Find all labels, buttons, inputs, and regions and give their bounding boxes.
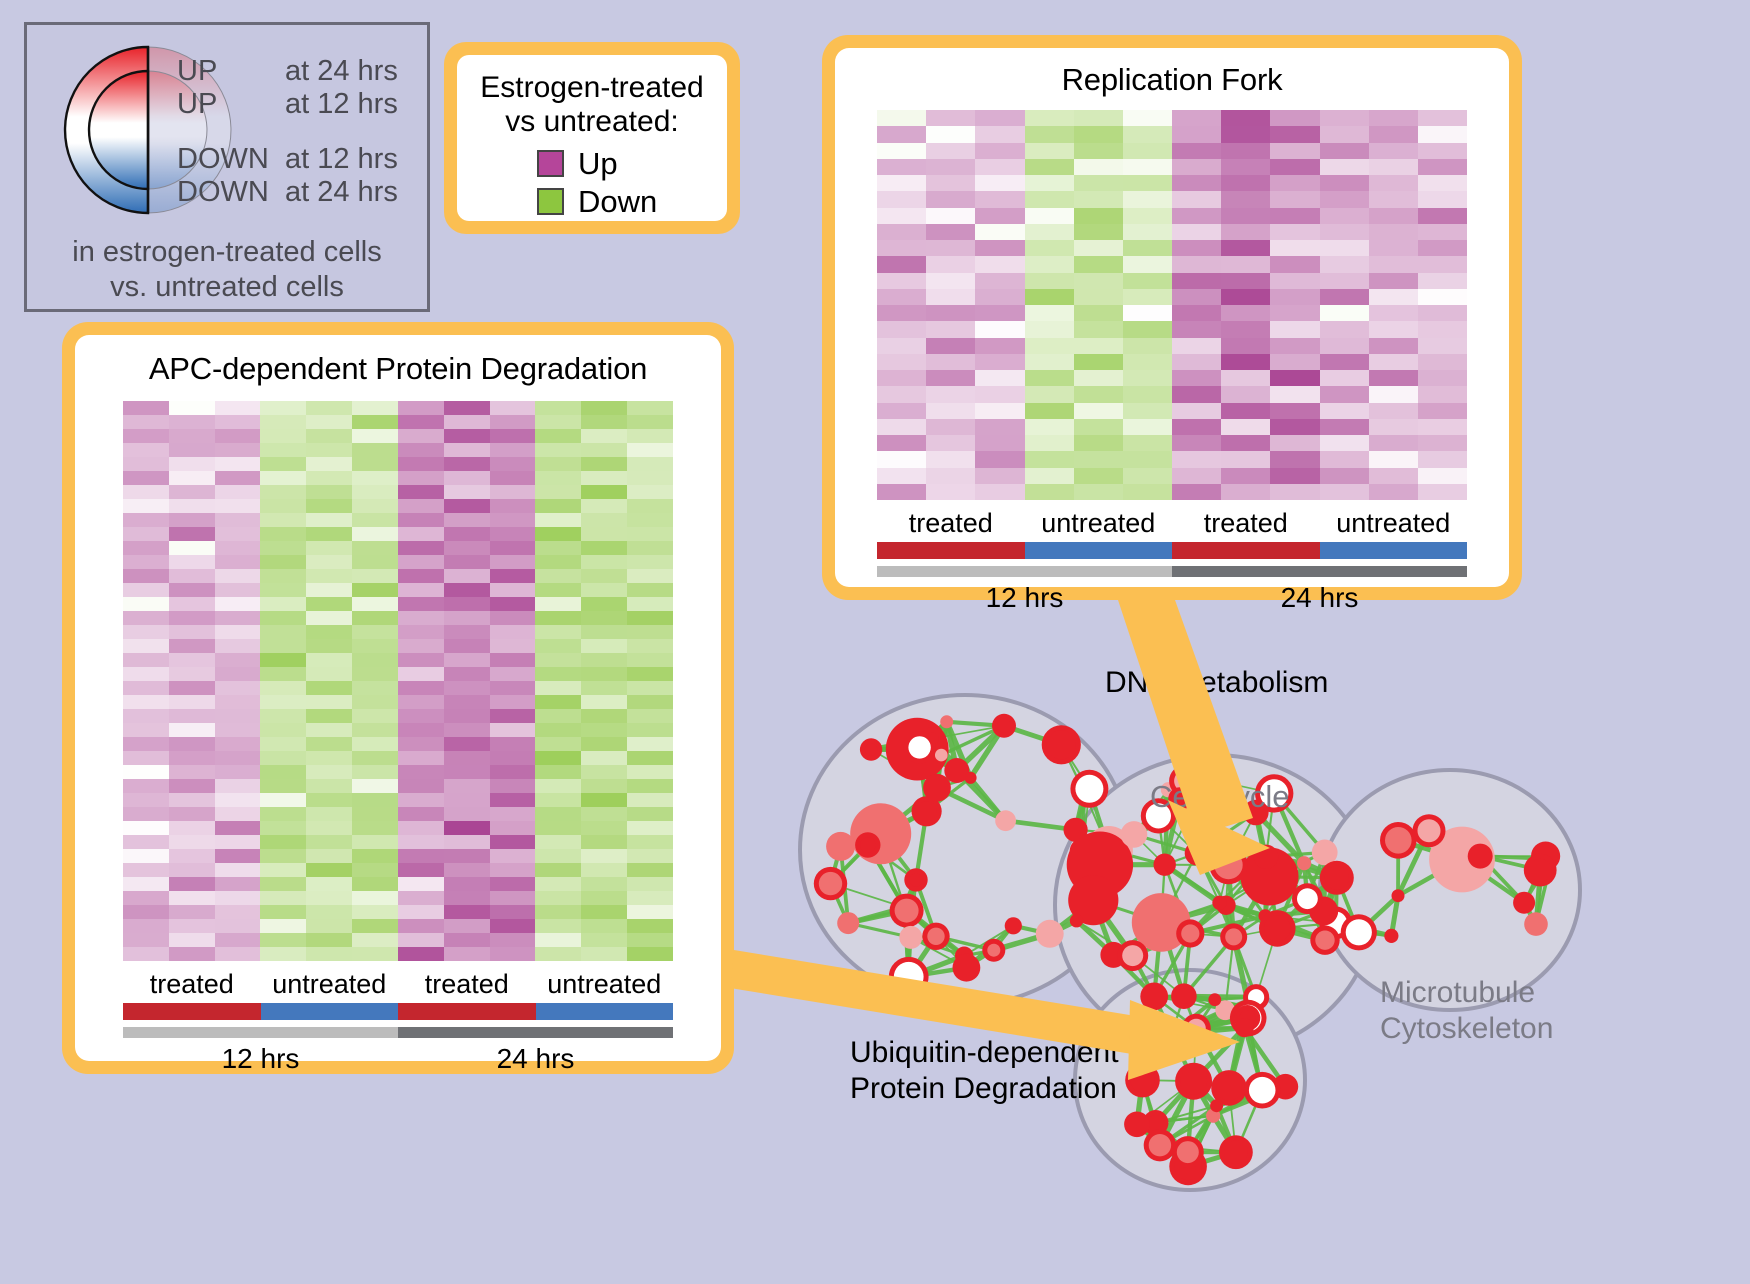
heatmap-cell [398, 401, 444, 415]
heatmap-cell [123, 709, 169, 723]
apc-degradation-group-labels: treated untreated treated untreated [123, 969, 673, 1000]
network-node [1130, 1068, 1155, 1093]
heatmap-cell [306, 751, 352, 765]
heatmap-cell [581, 905, 627, 919]
network-node [987, 944, 1000, 957]
heatmap-cell [1221, 110, 1270, 126]
heatmap-cell [444, 877, 490, 891]
heatmap-cell [306, 429, 352, 443]
replication-fork-group-bars [877, 542, 1467, 559]
heatmap-cell [1221, 321, 1270, 337]
heatmap-cell [490, 821, 536, 835]
heatmap-cell [444, 695, 490, 709]
heatmap-cell [1172, 370, 1221, 386]
heatmap-cell [1270, 338, 1319, 354]
heatmap-cell [398, 835, 444, 849]
network-node [1075, 775, 1103, 803]
replication-fork-group-labels: treated untreated treated untreated [877, 508, 1467, 539]
heatmap-cell [1270, 273, 1319, 289]
group-bar-untreated [261, 1003, 399, 1020]
heatmap-cell [352, 877, 398, 891]
heatmap-cell [1221, 435, 1270, 451]
heatmap-cell [1123, 143, 1172, 159]
heatmap-cell [581, 499, 627, 513]
heatmap-cell [215, 765, 261, 779]
heatmap-cell [352, 933, 398, 947]
heatmap-cell [169, 401, 215, 415]
heatmap-cell [877, 435, 926, 451]
heatmap-cell [215, 583, 261, 597]
heatmap-cell [260, 667, 306, 681]
heatmap-cell [123, 765, 169, 779]
heatmap-cell [1369, 403, 1418, 419]
heatmap-cell [352, 485, 398, 499]
heatmap-cell [260, 457, 306, 471]
heatmap-cell [581, 611, 627, 625]
heatmap-cell [1074, 224, 1123, 240]
heatmap-cell [444, 793, 490, 807]
heatmap-cell [1418, 126, 1467, 142]
heatmap-cell [877, 273, 926, 289]
time-bar-24hrs [1172, 566, 1467, 577]
heatmap-cell [490, 541, 536, 555]
heatmap-cell [490, 429, 536, 443]
heatmap-cell [1320, 191, 1369, 207]
heatmap-cell [581, 471, 627, 485]
heatmap-cell [1320, 110, 1369, 126]
network-node [865, 743, 877, 755]
heatmap-cell [926, 305, 975, 321]
heatmap-cell [444, 583, 490, 597]
heatmap-cell [169, 891, 215, 905]
heatmap-cell [877, 256, 926, 272]
heatmap-cell [1123, 126, 1172, 142]
heatmap-cell [1074, 419, 1123, 435]
heatmap-cell [260, 639, 306, 653]
heatmap-cell [215, 611, 261, 625]
heatmap-cell [169, 513, 215, 527]
heatmap-cell [215, 793, 261, 807]
heatmap-cell [1270, 110, 1319, 126]
heatmap-cell [398, 779, 444, 793]
heatmap-cell [1025, 305, 1074, 321]
heatmap-cell [1172, 451, 1221, 467]
heatmap-cell [398, 555, 444, 569]
heatmap-cell [1025, 419, 1074, 435]
heatmap-cell [627, 443, 673, 457]
heatmap-cell [581, 443, 627, 457]
apc-degradation-inner: APC-dependent Protein Degradation treate… [75, 335, 721, 1061]
heatmap-cell [215, 541, 261, 555]
network-node [944, 758, 969, 783]
group-label: untreated [1025, 508, 1173, 539]
network-node [1070, 914, 1083, 927]
heatmap-cell [581, 513, 627, 527]
heatmap-cell [877, 451, 926, 467]
heatmap-cell [260, 905, 306, 919]
heatmap-cell [398, 709, 444, 723]
heatmap-cell [1221, 419, 1270, 435]
heatmap-cell [1025, 435, 1074, 451]
group-label: treated [1172, 508, 1320, 539]
heatmap-cell [444, 541, 490, 555]
key-direction: UP [177, 57, 285, 86]
heatmap-cell [1221, 484, 1270, 500]
heatmap-cell [215, 751, 261, 765]
heatmap-cell [215, 415, 261, 429]
heatmap-cell [1320, 321, 1369, 337]
heatmap-cell [306, 709, 352, 723]
heatmap-cell [926, 419, 975, 435]
heatmap-cell [1221, 451, 1270, 467]
heatmap-cell [535, 611, 581, 625]
heatmap-cell [1369, 419, 1418, 435]
heatmap-cell [581, 485, 627, 499]
updown-legend-title: Estrogen-treated vs untreated: [457, 71, 727, 139]
heatmap-cell [926, 143, 975, 159]
heatmap-cell [169, 779, 215, 793]
heatmap-cell [123, 835, 169, 849]
heatmap-cell [123, 723, 169, 737]
heatmap-cell [306, 933, 352, 947]
heatmap-cell [1123, 403, 1172, 419]
heatmap-cell [1369, 256, 1418, 272]
heatmap-cell [1172, 468, 1221, 484]
heatmap-cell [581, 933, 627, 947]
key-row-down-24: DOWN at 24 hrs [177, 178, 427, 207]
heatmap-cell [1369, 370, 1418, 386]
heatmap-cell [581, 639, 627, 653]
heatmap-cell [1074, 321, 1123, 337]
heatmap-cell [352, 919, 398, 933]
heatmap-cell [398, 807, 444, 821]
heatmap-cell [398, 681, 444, 695]
heatmap-cell [169, 443, 215, 457]
heatmap-cell [398, 947, 444, 961]
heatmap-cell [1418, 289, 1467, 305]
heatmap-cell [123, 653, 169, 667]
heatmap-cell [1369, 191, 1418, 207]
heatmap-cell [627, 597, 673, 611]
heatmap-cell [975, 419, 1024, 435]
heatmap-cell [352, 513, 398, 527]
heatmap-cell [444, 779, 490, 793]
heatmap-cell [444, 919, 490, 933]
heatmap-cell [490, 919, 536, 933]
heatmap-cell [1320, 403, 1369, 419]
heatmap-cell [306, 667, 352, 681]
heatmap-cell [535, 569, 581, 583]
heatmap-cell [306, 485, 352, 499]
heatmap-cell [1123, 240, 1172, 256]
heatmap-cell [535, 667, 581, 681]
heatmap-cell [535, 485, 581, 499]
heatmap-cell [215, 401, 261, 415]
heatmap-cell [352, 849, 398, 863]
heatmap-cell [1369, 338, 1418, 354]
heatmap-cell [1172, 386, 1221, 402]
heatmap-cell [123, 597, 169, 611]
heatmap-cell [581, 947, 627, 961]
heatmap-cell [398, 765, 444, 779]
heatmap-cell [1221, 370, 1270, 386]
heatmap-cell [926, 451, 975, 467]
heatmap-cell [490, 555, 536, 569]
heatmap-cell [444, 821, 490, 835]
heatmap-cell [535, 807, 581, 821]
heatmap-cell [260, 443, 306, 457]
heatmap-cell [260, 863, 306, 877]
heatmap-cell [627, 807, 673, 821]
heatmap-cell [1172, 321, 1221, 337]
heatmap-cell [352, 443, 398, 457]
heatmap-cell [169, 919, 215, 933]
network-node [1047, 730, 1076, 759]
heatmap-cell [169, 709, 215, 723]
heatmap-cell [490, 443, 536, 457]
heatmap-cell [123, 569, 169, 583]
network-node [909, 873, 922, 886]
heatmap-cell [535, 877, 581, 891]
heatmap-cell [581, 415, 627, 429]
heatmap-cell [260, 933, 306, 947]
updown-legend-card: Estrogen-treated vs untreated: Up Down [444, 42, 740, 234]
heatmap-cell [260, 695, 306, 709]
heatmap-cell [627, 695, 673, 709]
heatmap-cell [260, 793, 306, 807]
heatmap-cell [1074, 370, 1123, 386]
heatmap-cell [306, 555, 352, 569]
apc-degradation-axis: treated untreated treated untreated 12 h [123, 969, 673, 1075]
heatmap-cell [1418, 419, 1467, 435]
heatmap-cell [215, 863, 261, 877]
heatmap-cell [1320, 386, 1369, 402]
heatmap-cell [975, 338, 1024, 354]
legend-label-up: Up [578, 146, 618, 182]
heatmap-cell [535, 933, 581, 947]
network-node [940, 715, 953, 728]
heatmap-cell [260, 611, 306, 625]
heatmap-cell [444, 947, 490, 961]
heatmap-cell [260, 555, 306, 569]
heatmap-cell [490, 597, 536, 611]
heatmap-cell [1172, 224, 1221, 240]
heatmap-cell [1270, 419, 1319, 435]
heatmap-cell [1123, 321, 1172, 337]
heatmap-cell [260, 429, 306, 443]
heatmap-cell [215, 919, 261, 933]
heatmap-cell [490, 681, 536, 695]
heatmap-cell [490, 401, 536, 415]
heatmap-cell [398, 821, 444, 835]
heatmap-cell [1320, 273, 1369, 289]
heatmap-cell [123, 541, 169, 555]
heatmap-cell [398, 905, 444, 919]
network-node [1181, 924, 1199, 942]
network-node [953, 954, 981, 982]
network-node [927, 928, 944, 945]
network-node [1005, 917, 1022, 934]
heatmap-cell [260, 765, 306, 779]
network-node [895, 899, 919, 923]
heatmap-cell [398, 849, 444, 863]
group-label: untreated [261, 969, 399, 1000]
heatmap-cell [1025, 110, 1074, 126]
heatmap-cell [215, 891, 261, 905]
heatmap-cell [581, 429, 627, 443]
heatmap-cell [1172, 126, 1221, 142]
heatmap-cell [490, 751, 536, 765]
heatmap-cell [444, 863, 490, 877]
key-time: at 24 hrs [285, 57, 398, 86]
heatmap-cell [1123, 435, 1172, 451]
heatmap-cell [352, 863, 398, 877]
heatmap-cell [1369, 289, 1418, 305]
heatmap-cell [490, 723, 536, 737]
heatmap-cell [1418, 305, 1467, 321]
replication-fork-card: Replication Fork treated untreated treat… [822, 35, 1522, 600]
heatmap-cell [1270, 159, 1319, 175]
heatmap-cell [260, 919, 306, 933]
heatmap-cell [1123, 208, 1172, 224]
heatmap-cell [1025, 354, 1074, 370]
heatmap-cell [1025, 468, 1074, 484]
heatmap-cell [1320, 468, 1369, 484]
heatmap-cell [1320, 256, 1369, 272]
heatmap-cell [627, 751, 673, 765]
heatmap-cell [975, 191, 1024, 207]
heatmap-cell [1221, 354, 1270, 370]
heatmap-cell [1025, 143, 1074, 159]
heatmap-cell [535, 583, 581, 597]
heatmap-cell [123, 695, 169, 709]
heatmap-cell [535, 849, 581, 863]
heatmap-cell [490, 513, 536, 527]
heatmap-cell [975, 126, 1024, 142]
heatmap-cell [398, 653, 444, 667]
heatmap-cell [877, 354, 926, 370]
heatmap-cell [535, 821, 581, 835]
heatmap-cell [627, 457, 673, 471]
heatmap-cell [123, 681, 169, 695]
time-label: 24 hrs [398, 1043, 673, 1075]
heatmap-cell [1221, 273, 1270, 289]
heatmap-cell [975, 484, 1024, 500]
heatmap-cell [306, 597, 352, 611]
heatmap-cell [627, 401, 673, 415]
heatmap-cell [398, 667, 444, 681]
heatmap-cell [926, 240, 975, 256]
key-time: at 12 hrs [285, 145, 398, 174]
heatmap-cell [306, 849, 352, 863]
heatmap-cell [1221, 403, 1270, 419]
heatmap-cell [490, 905, 536, 919]
heatmap-cell [306, 611, 352, 625]
heatmap-cell [352, 653, 398, 667]
heatmap-cell [535, 779, 581, 793]
heatmap-cell [260, 415, 306, 429]
heatmap-cell [169, 751, 215, 765]
heatmap-cell [169, 541, 215, 555]
heatmap-cell [169, 821, 215, 835]
apc-degradation-time-bars [123, 1027, 673, 1038]
heatmap-cell [877, 208, 926, 224]
network-node [1524, 912, 1548, 936]
heatmap-cell [1270, 386, 1319, 402]
heatmap-cell [1074, 110, 1123, 126]
heatmap-cell [215, 527, 261, 541]
heatmap-cell [444, 499, 490, 513]
heatmap-cell [306, 583, 352, 597]
heatmap-cell [490, 807, 536, 821]
heatmap-cell [1074, 273, 1123, 289]
heatmap-cell [1025, 386, 1074, 402]
heatmap-cell [398, 443, 444, 457]
heatmap-cell [1369, 110, 1418, 126]
heatmap-cell [926, 191, 975, 207]
heatmap-cell [1221, 175, 1270, 191]
heatmap-cell [1221, 126, 1270, 142]
heatmap-cell [490, 667, 536, 681]
heatmap-cell [1172, 256, 1221, 272]
heatmap-cell [1074, 484, 1123, 500]
heatmap-cell [1025, 403, 1074, 419]
heatmap-cell [1123, 419, 1172, 435]
heatmap-cell [535, 527, 581, 541]
heatmap-cell [169, 415, 215, 429]
replication-fork-time-bars [877, 566, 1467, 577]
heatmap-cell [444, 667, 490, 681]
heatmap-cell [306, 877, 352, 891]
heatmap-cell [215, 555, 261, 569]
heatmap-cell [1221, 338, 1270, 354]
heatmap-cell [1172, 419, 1221, 435]
heatmap-cell [169, 555, 215, 569]
heatmap-cell [444, 443, 490, 457]
heatmap-cell [123, 555, 169, 569]
heatmap-cell [352, 667, 398, 681]
heatmap-cell [627, 499, 673, 513]
heatmap-cell [877, 484, 926, 500]
heatmap-cell [260, 625, 306, 639]
heatmap-cell [260, 821, 306, 835]
network-node [1036, 920, 1064, 948]
heatmap-cell [352, 583, 398, 597]
network-node [1392, 889, 1405, 902]
heatmap-cell [490, 471, 536, 485]
heatmap-cell [169, 737, 215, 751]
key-direction: DOWN [177, 145, 285, 174]
heatmap-cell [1172, 338, 1221, 354]
heatmap-cell [1270, 305, 1319, 321]
heatmap-cell [627, 737, 673, 751]
cluster-label-ubiquitin: Ubiquitin-dependentProtein Degradation [850, 1035, 1119, 1107]
heatmap-cell [1270, 289, 1319, 305]
heatmap-cell [444, 401, 490, 415]
heatmap-cell [1320, 175, 1369, 191]
heatmap-cell [926, 370, 975, 386]
legend-title-line1: Estrogen-treated [457, 71, 727, 105]
heatmap-cell [627, 541, 673, 555]
heatmap-cell [581, 821, 627, 835]
heatmap-cell [1025, 126, 1074, 142]
heatmap-cell [123, 779, 169, 793]
heatmap-cell [215, 779, 261, 793]
heatmap-cell [169, 611, 215, 625]
heatmap-cell [581, 877, 627, 891]
time-label: 12 hrs [123, 1043, 398, 1075]
heatmap-cell [581, 835, 627, 849]
